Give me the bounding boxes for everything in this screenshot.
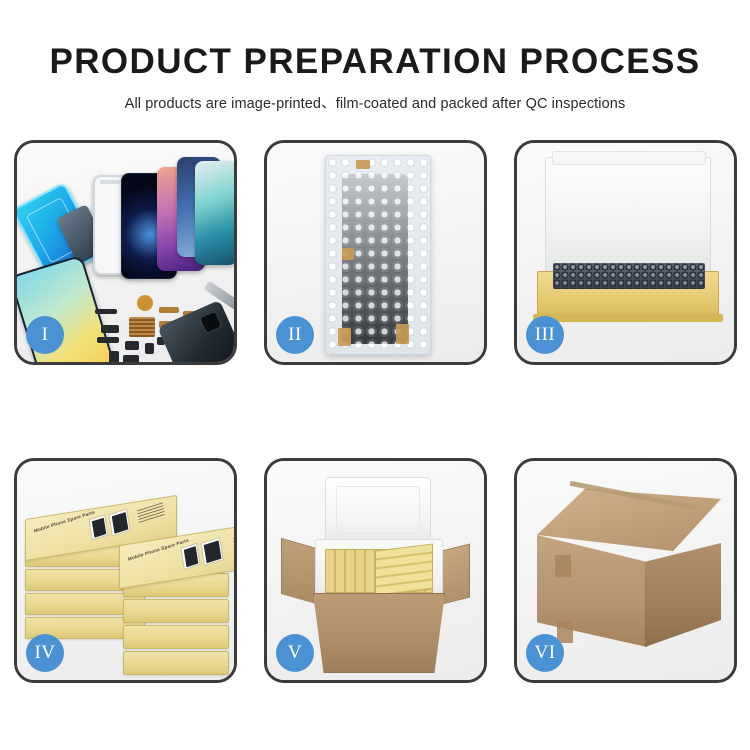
process-grid: I II III xyxy=(14,140,736,683)
page-title: PRODUCT PREPARATION PROCESS xyxy=(0,0,750,81)
step-badge-2: II xyxy=(276,316,314,354)
part-camera-module xyxy=(145,343,154,354)
tape-strip-bottom-left xyxy=(338,328,351,346)
part-sim-tray xyxy=(109,351,119,365)
process-step-5: V xyxy=(264,458,487,683)
box-art-swatch-b2 xyxy=(200,537,224,566)
page-subtitle: All products are image-printed、film-coat… xyxy=(0,81,750,113)
header: PRODUCT PREPARATION PROCESS All products… xyxy=(0,0,750,113)
tape-strip-top xyxy=(356,160,370,169)
carton-top-face xyxy=(537,489,721,551)
step-badge-3: III xyxy=(526,316,564,354)
stacked-box-r4 xyxy=(123,651,229,675)
carton-front-face xyxy=(537,535,647,647)
step-badge-6: VI xyxy=(526,634,564,672)
step-badge-5: V xyxy=(276,634,314,672)
bubble-wrap-layer xyxy=(553,263,705,289)
step-badge-4: IV xyxy=(26,634,64,672)
panel-1-image: I xyxy=(17,143,234,362)
white-foam-lid xyxy=(545,157,711,277)
panel-4-image: Mobile Phone Spare Parts Mobile Phone Sp… xyxy=(17,461,234,680)
panel-2-image: II xyxy=(267,143,484,362)
box-art-swatch-a1 xyxy=(88,514,108,541)
panel-6-image: VI xyxy=(517,461,734,680)
stacked-box-r3 xyxy=(123,625,229,649)
carton-tape-upper xyxy=(555,555,571,577)
yellow-boxes-row-b xyxy=(375,543,433,596)
foam-cooler-lid xyxy=(325,477,431,545)
part-vibrator xyxy=(123,355,139,363)
carton-body xyxy=(313,593,445,673)
panel-3-image: III xyxy=(517,143,734,362)
tape-strip-bottom-right xyxy=(396,324,409,344)
box-spec-lines-b xyxy=(233,530,237,552)
stacked-box-r2 xyxy=(123,599,229,623)
box-art-swatch-b1 xyxy=(180,543,200,570)
box-label-a: Mobile Phone Spare Parts xyxy=(34,509,96,533)
process-step-6: VI xyxy=(514,458,737,683)
part-speaker-round xyxy=(137,295,153,311)
infographic-page: PRODUCT PREPARATION PROCESS All products… xyxy=(0,0,750,750)
panel-5-image: V xyxy=(267,461,484,680)
part-bracket-a xyxy=(101,325,119,333)
box-spec-lines-a xyxy=(137,502,165,524)
tape-strip-middle xyxy=(342,248,354,260)
box-art-swatch-a2 xyxy=(108,509,130,537)
part-bracket-b xyxy=(97,337,119,343)
step-badge-1: I xyxy=(26,316,64,354)
process-step-1: I xyxy=(14,140,237,365)
part-flex-cable-a xyxy=(159,307,179,313)
part-earpiece-mesh xyxy=(95,309,117,314)
bubble-wrap-package xyxy=(325,155,431,355)
phone-teal-display xyxy=(195,161,237,265)
process-step-4: Mobile Phone Spare Parts Mobile Phone Sp… xyxy=(14,458,237,683)
process-step-2: II xyxy=(264,140,487,365)
process-step-3: III xyxy=(514,140,737,365)
part-shield-can xyxy=(125,341,139,350)
carton-side-face xyxy=(645,543,721,647)
part-logic-board xyxy=(129,317,155,337)
